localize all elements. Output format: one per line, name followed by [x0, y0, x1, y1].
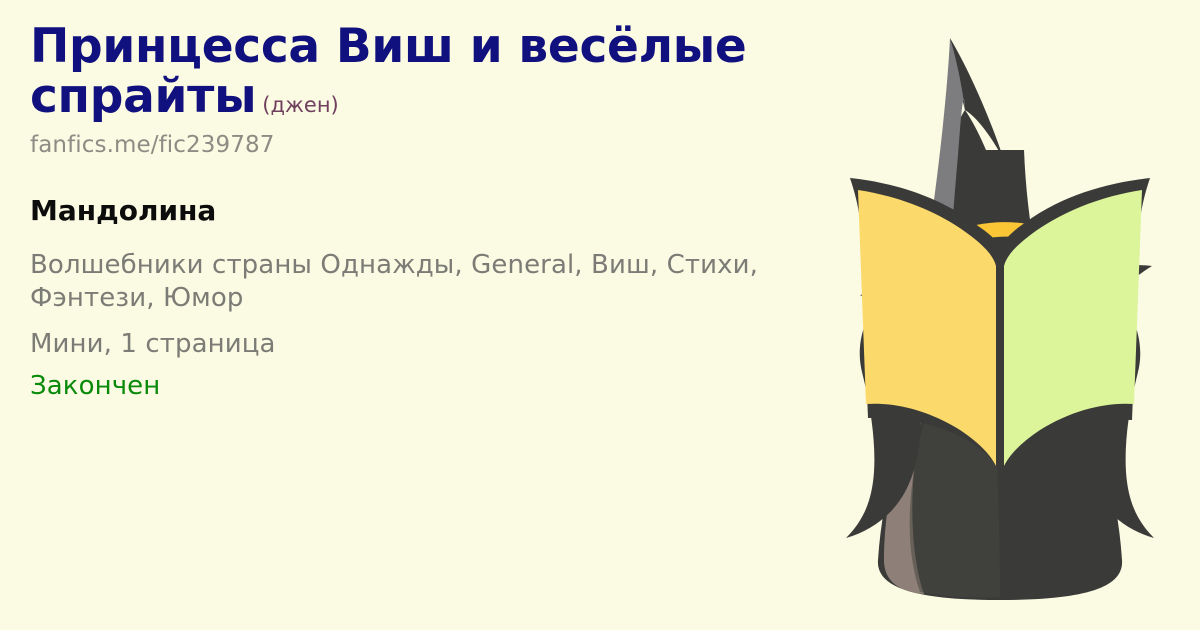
story-metadata: Волшебники страны Однажды, General, Виш,…: [30, 249, 830, 403]
status-badge: Закончен: [30, 370, 830, 403]
story-title-text: Принцесса Виш и весёлые спрайты: [30, 19, 746, 124]
story-size: Мини, 1 страница: [30, 328, 830, 361]
wizard-reading-book-illustration: [800, 0, 1200, 630]
book-spine: [997, 262, 1003, 470]
story-card: Принцесса Виш и весёлые спрайты(джен) fa…: [0, 0, 1200, 630]
story-author[interactable]: Мандолина: [30, 194, 830, 227]
page-title: Принцесса Виш и весёлые спрайты(джен): [30, 22, 830, 122]
story-text-column: Принцесса Виш и весёлые спрайты(джен) fa…: [30, 22, 830, 403]
story-fandom-tags: Волшебники страны Однажды, General, Виш,…: [30, 249, 820, 315]
story-url[interactable]: fanfics.me/fic239787: [30, 132, 830, 158]
story-category-label: (джен): [262, 93, 338, 117]
